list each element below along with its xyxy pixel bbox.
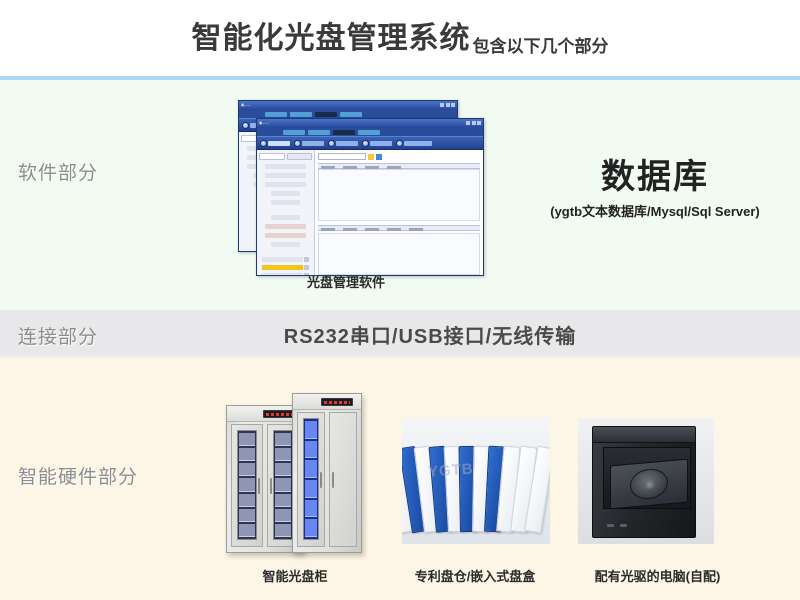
database-subtitle: (ygtb文本数据库/Mysql/Sql Server)	[520, 201, 790, 220]
disc-tray-stack	[402, 424, 550, 538]
led-display-icon	[321, 398, 353, 406]
pc-front-buttons	[607, 524, 627, 527]
row-label-software: 软件部分	[18, 158, 98, 185]
window-titlebar: ▣⎯⎯⎯⎯	[257, 119, 483, 128]
window-toolbar	[257, 136, 483, 150]
database-title: 数据库	[520, 158, 790, 197]
watermark-text: YGTB	[427, 460, 474, 480]
window-tabstrip	[257, 128, 483, 136]
toolbar-icon	[242, 122, 249, 129]
pc-tower	[592, 426, 696, 538]
image-disc-magazine: YGTB	[402, 418, 550, 544]
window-controls	[440, 103, 455, 107]
window-tabstrip	[239, 110, 457, 118]
connection-text: RS232串口/USB接口/无线传输	[250, 320, 610, 349]
optical-drive-tray	[610, 459, 688, 510]
toolbar-icon	[260, 140, 267, 147]
window-controls	[466, 121, 481, 125]
optical-drive-bay	[603, 447, 691, 509]
page-subtitle: 包含以下几个部分	[473, 32, 609, 57]
caption-hardware-1: 专利盘仓/嵌入式盘盒	[395, 566, 555, 585]
toolbar-icon	[396, 140, 403, 147]
row-label-hardware: 智能硬件部分	[18, 462, 138, 489]
toolbar-icon	[328, 140, 335, 147]
poster-root: 智能化光盘管理系统 包含以下几个部分 软件部分 连接部分 智能硬件部分 ▣⎯⎯⎯…	[0, 0, 800, 600]
caption-hardware-0: 智能光盘柜	[210, 566, 380, 585]
app-window-screenshot-front: ▣⎯⎯⎯⎯	[256, 118, 484, 276]
toolbar-icon	[294, 140, 301, 147]
toolbar-icon	[362, 140, 369, 147]
window-right-panel	[315, 150, 483, 276]
page-header: 智能化光盘管理系统 包含以下几个部分	[0, 0, 800, 78]
led-display-icon	[263, 410, 295, 418]
window-titlebar: ▣⎯⎯⎯⎯	[239, 101, 457, 110]
window-left-panel	[257, 150, 315, 276]
image-pc-with-optical-drive	[578, 418, 714, 544]
window-body	[257, 150, 483, 276]
cabinet-right	[292, 393, 362, 553]
caption-hardware-2: 配有光驱的电脑(自配)	[570, 566, 745, 585]
disc-well-icon	[630, 467, 668, 500]
database-block: 数据库 (ygtb文本数据库/Mysql/Sql Server)	[520, 158, 790, 220]
row-label-connection: 连接部分	[18, 322, 98, 349]
page-title: 智能化光盘管理系统	[192, 24, 471, 54]
image-smart-disc-cabinet	[218, 378, 368, 553]
